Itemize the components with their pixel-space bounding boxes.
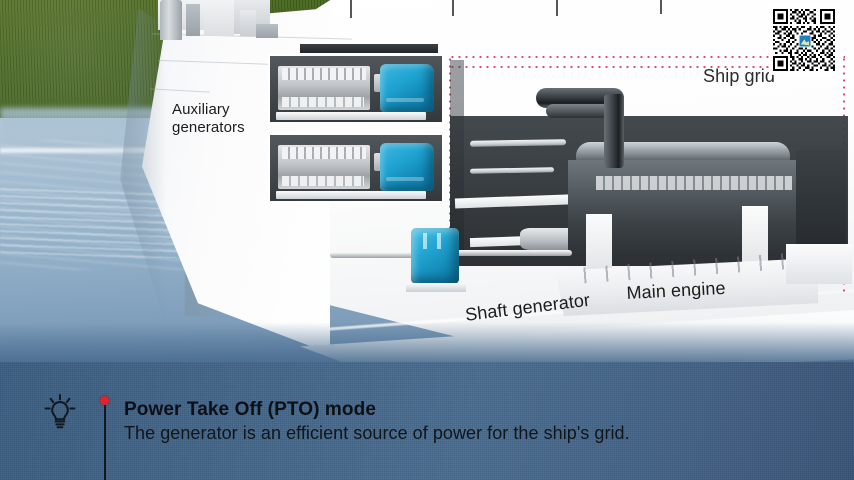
exhaust-pipe	[536, 88, 646, 162]
lightbulb-icon	[38, 388, 82, 436]
mast	[350, 0, 352, 18]
bulkhead	[450, 60, 464, 250]
superstructure-block	[186, 4, 200, 36]
caption-bar: Power Take Off (PTO) mode The generator …	[0, 362, 854, 480]
label-auxiliary-generators: Auxiliary generators	[172, 101, 245, 138]
qr-code-icon	[773, 9, 835, 71]
superstructure-block	[240, 10, 256, 36]
mast	[556, 0, 558, 16]
mast	[452, 0, 454, 16]
slide-canvas: Auxiliary generators Ship grid Shaft gen…	[0, 0, 854, 480]
superstructure-block	[204, 0, 234, 36]
deck-edge-dark	[300, 44, 438, 53]
mast	[660, 0, 662, 14]
propeller-shaft	[330, 252, 416, 258]
caption-marker-dot	[100, 396, 109, 405]
caption-text-block: Power Take Off (PTO) mode The generator …	[124, 399, 824, 444]
shaft-generator-base	[406, 283, 466, 292]
aux-engine-block	[278, 145, 370, 189]
intermediate-shaft	[456, 250, 572, 256]
caption-title: Power Take Off (PTO) mode	[124, 399, 824, 421]
auxiliary-generator-bay-2	[268, 133, 444, 203]
aux-skid	[276, 112, 426, 120]
aft-deck-slab	[786, 244, 852, 284]
label-ship-grid: Ship grid	[703, 66, 775, 88]
aux-skid	[276, 191, 426, 199]
exhaust-vertical	[604, 94, 624, 168]
aux-generator-unit	[380, 143, 434, 191]
aux-generator-unit	[380, 64, 434, 112]
auxiliary-generator-bay-1	[268, 54, 444, 124]
aux-engine-block	[278, 66, 370, 110]
main-engine-frame	[596, 176, 792, 190]
caption-subtitle: The generator is an efficient source of …	[124, 423, 824, 444]
caption-marker-line	[104, 400, 106, 480]
shaft-generator-unit	[411, 228, 459, 284]
superstructure-block	[256, 24, 278, 38]
funnel	[160, 0, 182, 40]
qr-code[interactable]	[769, 5, 839, 75]
